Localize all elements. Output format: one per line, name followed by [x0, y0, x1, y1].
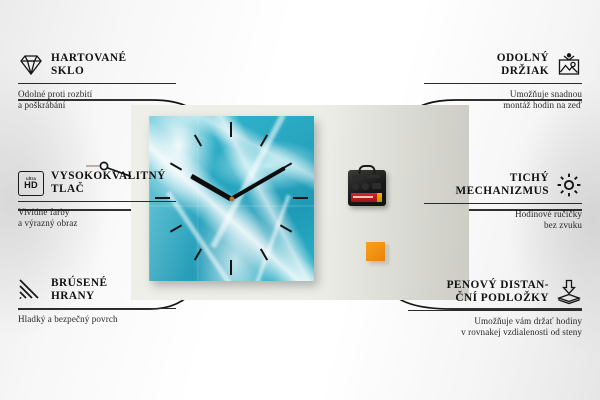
diamond-icon	[18, 52, 44, 78]
feature-title: ODOLNÝ DRŽIAK	[497, 52, 549, 79]
feature-title: BRÚSENÉ HRANY	[51, 277, 108, 304]
feature-title: VYSOKOKVALITNÝ TLAČ	[51, 170, 166, 197]
feature-high-quality-print: ultra HD VYSOKOKVALITNÝ TLAČ Vivídne far…	[18, 170, 176, 230]
feature-title: TICHÝ MECHANIZMUS	[456, 172, 549, 199]
feature-description: Odolné proti rozbití a poškrábání	[18, 89, 176, 112]
feature-ground-edges: BRÚSENÉ HRANY Hladký a bezpečný povrch	[18, 277, 176, 325]
ultra-hd-icon: ultra HD	[18, 171, 44, 196]
picture-hanger-icon	[556, 52, 582, 78]
feature-divider	[424, 83, 582, 84]
feature-tempered-glass: HARTOVANÉ SKLO Odolné proti rozbití a po…	[18, 52, 176, 112]
clock-tick	[230, 122, 232, 137]
feature-title: PENOVÝ DISTAN- ČNÍ PODLOŽKY	[447, 279, 549, 306]
clock-center-cap	[229, 196, 234, 201]
feature-divider	[18, 83, 176, 84]
feature-description: Hodinové ručičky bez zvuku	[424, 209, 582, 232]
infographic-canvas: HARTOVANÉ SKLO Odolné proti rozbití a po…	[0, 0, 600, 400]
feature-description: Vivídne farby a výrazný obraz	[18, 207, 176, 230]
feature-divider	[18, 308, 176, 309]
mechanism-hanger-hook	[359, 165, 376, 174]
feature-description: Umožňuje vám držať hodiny v rovnakej vzd…	[408, 316, 582, 339]
feature-title: HARTOVANÉ SKLO	[51, 52, 126, 79]
feature-divider	[408, 310, 582, 311]
feature-durable-holder: ODOLNÝ DRŽIAK Umožňuje snadnou montáž ho…	[424, 52, 582, 112]
feature-divider	[18, 201, 176, 202]
feature-silent-mechanism: TICHÝ MECHANIZMUS Hodinové ručičky bez z…	[424, 172, 582, 232]
product-photo	[131, 105, 469, 300]
clock-tick	[293, 197, 308, 199]
feature-description: Umožňuje snadnou montáž hodin na zeď	[424, 89, 582, 112]
connector-dot-print	[100, 162, 107, 169]
feature-foam-spacers: PENOVÝ DISTAN- ČNÍ PODLOŽKY Umožňuje vám…	[408, 279, 582, 339]
clock-tick	[230, 260, 232, 275]
ultra-hd-icon-bottom-label: HD	[24, 181, 38, 190]
clock-mechanism	[348, 170, 386, 206]
feature-divider	[424, 203, 582, 204]
feature-description: Hladký a bezpečný povrch	[18, 314, 176, 325]
ground-edges-icon	[18, 277, 44, 303]
mechanism-battery	[351, 193, 381, 202]
foam-pad-press-icon	[556, 279, 582, 305]
gear-icon	[556, 172, 582, 198]
foam-spacer-pad	[366, 242, 385, 261]
